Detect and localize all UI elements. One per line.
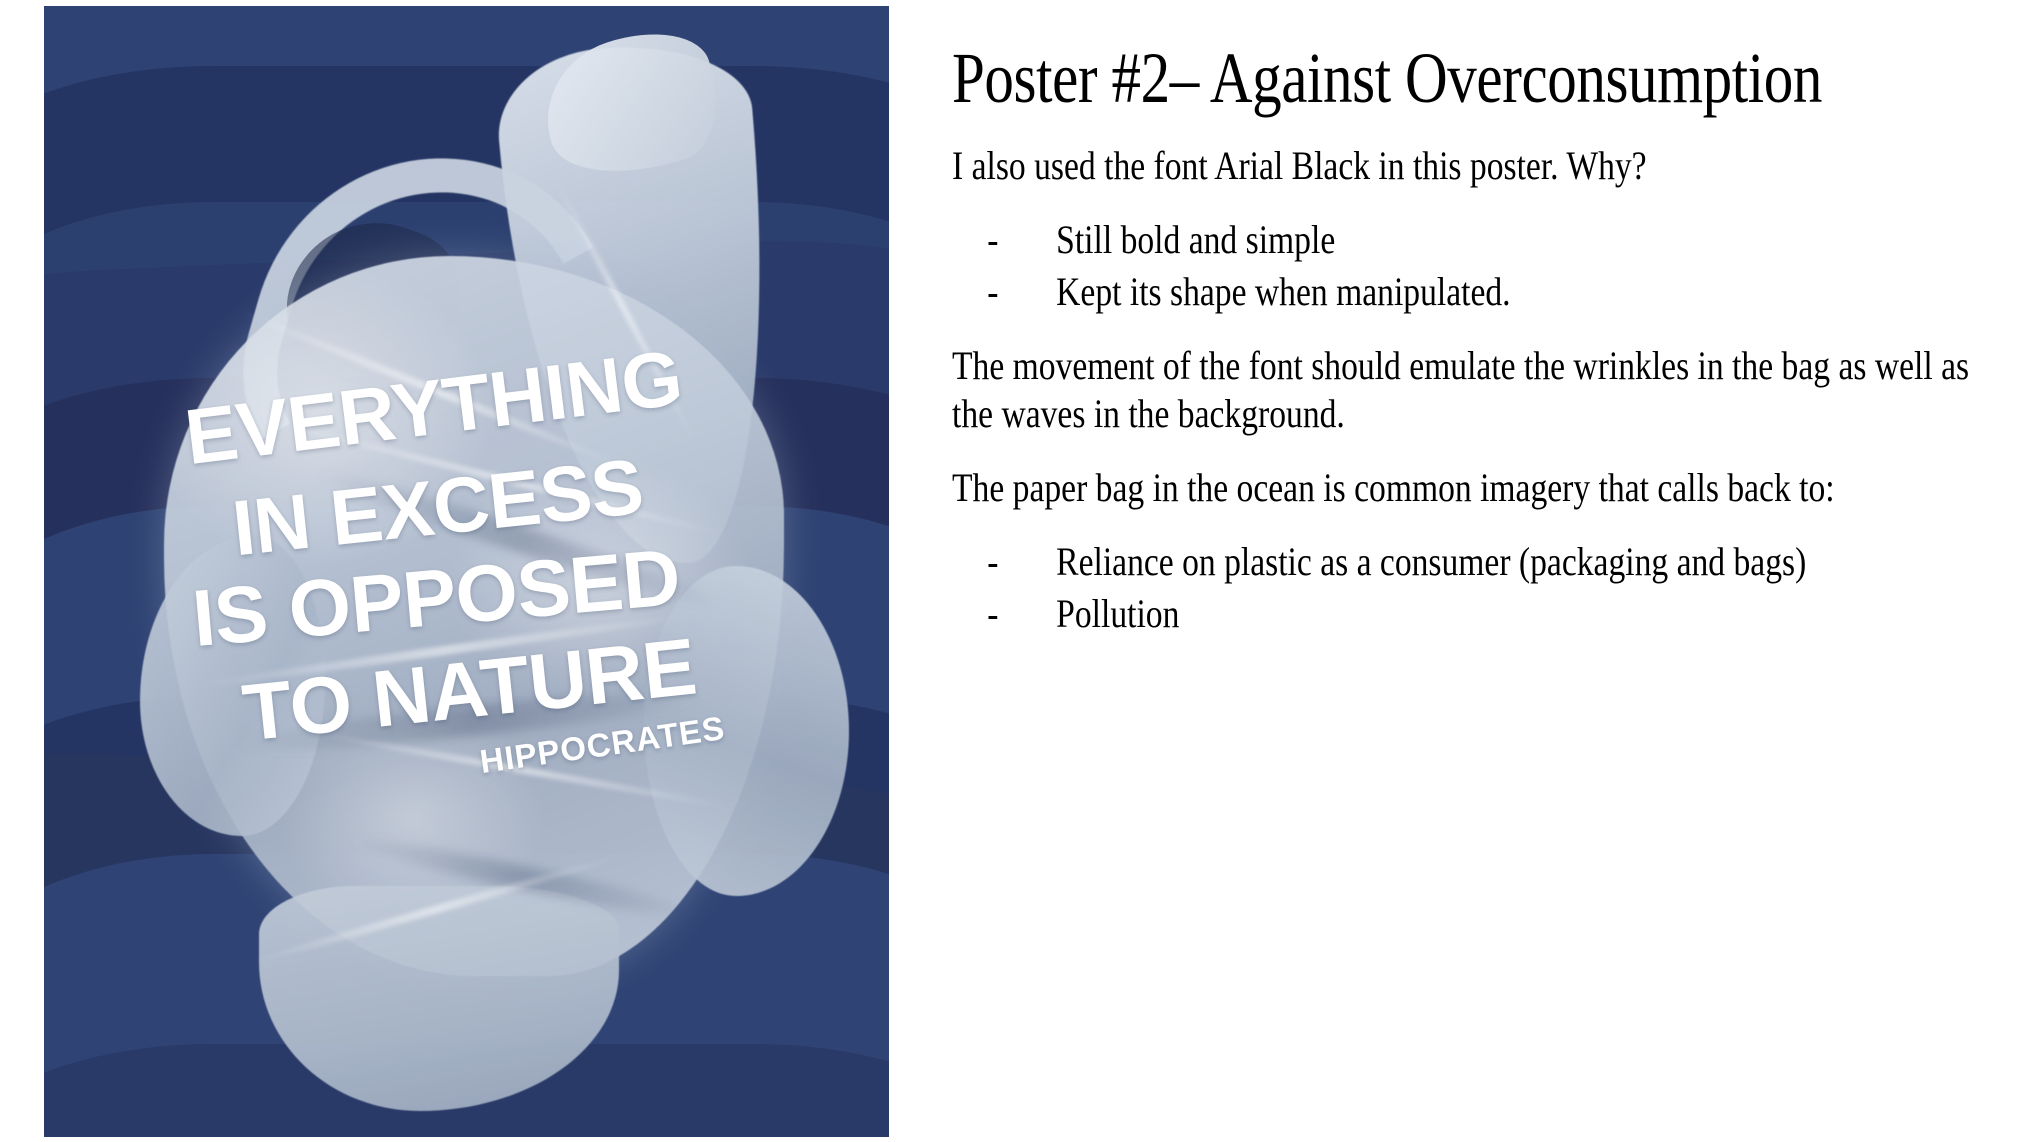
poster-image: EVERYTHING IN EXCESS IS OPPOSED TO NATUR… [44,6,889,1137]
list-item: - Kept its shape when manipulated. [952,268,1972,316]
list-item: - Reliance on plastic as a consumer (pac… [952,538,1972,586]
poster-quote-overlay: EVERYTHING IN EXCESS IS OPPOSED TO NATUR… [44,6,889,1137]
slide-title: Poster #2– Against Overconsumption [952,40,1989,116]
imagery-paragraph: The paper bag in the ocean is common ima… [952,464,1972,512]
list-item: - Still bold and simple [952,216,1972,264]
imagery-bullet-list: - Reliance on plastic as a consumer (pac… [952,538,1972,638]
slide-text-column: Poster #2– Against Overconsumption I als… [952,40,1972,664]
list-item-label: Reliance on plastic as a consumer (packa… [1056,539,1806,584]
bullet-marker: - [987,216,998,264]
list-item-label: Kept its shape when manipulated. [1056,269,1510,314]
list-item: - Pollution [952,590,1972,638]
reasons-bullet-list: - Still bold and simple - Kept its shape… [952,216,1972,316]
slide-canvas: EVERYTHING IN EXCESS IS OPPOSED TO NATUR… [0,0,2030,1142]
bullet-marker: - [987,538,998,586]
list-item-label: Still bold and simple [1056,217,1335,262]
bullet-marker: - [987,590,998,638]
bullet-marker: - [987,268,998,316]
movement-paragraph: The movement of the font should emulate … [952,342,1972,438]
intro-paragraph: I also used the font Arial Black in this… [952,142,1972,190]
list-item-label: Pollution [1056,591,1179,636]
